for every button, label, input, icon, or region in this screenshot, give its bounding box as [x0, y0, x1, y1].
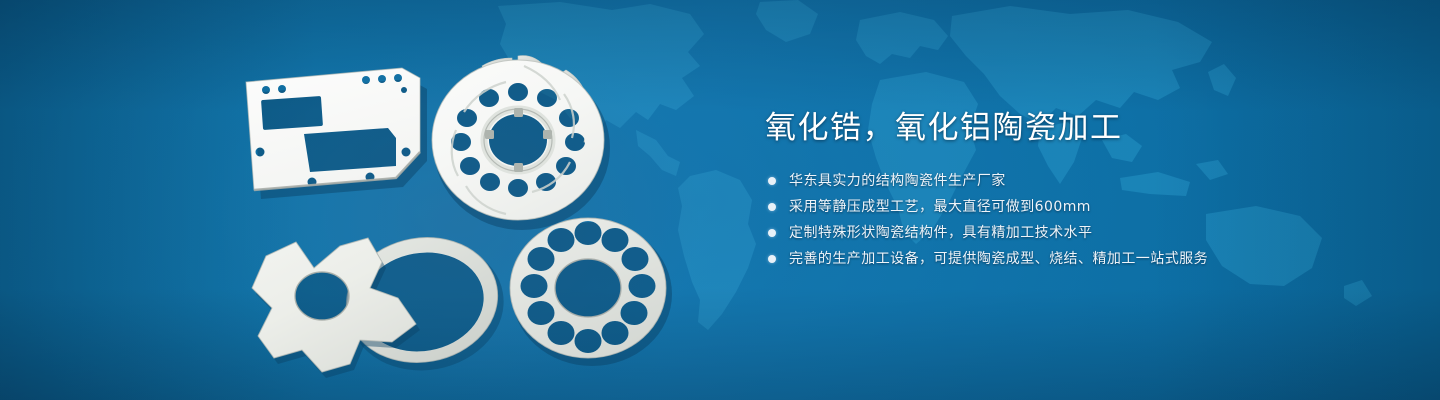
bullet-dot-icon: [768, 203, 776, 211]
bullet-dot-icon: [768, 229, 776, 237]
hero-banner: 氧化锆，氧化铝陶瓷加工 华东具实力的结构陶瓷件生产厂家 采用等静压成型工艺，最大…: [0, 0, 1440, 400]
bullet-dot-icon: [768, 255, 776, 263]
list-item: 华东具实力的结构陶瓷件生产厂家: [768, 170, 1385, 192]
banner-copy: 氧化锆，氧化铝陶瓷加工 华东具实力的结构陶瓷件生产厂家 采用等静压成型工艺，最大…: [765, 108, 1385, 274]
list-item-label: 采用等静压成型工艺，最大直径可做到600mm: [789, 196, 1091, 218]
list-item: 采用等静压成型工艺，最大直径可做到600mm: [768, 196, 1385, 218]
feature-list: 华东具实力的结构陶瓷件生产厂家 采用等静压成型工艺，最大直径可做到600mm 定…: [768, 170, 1385, 270]
ceramic-parts-photo-group: [230, 30, 700, 380]
list-item: 完善的生产加工设备，可提供陶瓷成型、烧结、精加工一站式服务: [768, 248, 1385, 270]
list-item: 定制特殊形状陶瓷结构件，具有精加工技术水平: [768, 222, 1385, 244]
list-item-label: 定制特殊形状陶瓷结构件，具有精加工技术水平: [789, 222, 1092, 244]
list-item-label: 华东具实力的结构陶瓷件生产厂家: [789, 170, 1006, 192]
list-item-label: 完善的生产加工设备，可提供陶瓷成型、烧结、精加工一站式服务: [789, 248, 1208, 270]
bullet-dot-icon: [768, 177, 776, 185]
ceramic-perforated-disc: [230, 30, 700, 380]
page-title: 氧化锆，氧化铝陶瓷加工: [765, 108, 1385, 148]
